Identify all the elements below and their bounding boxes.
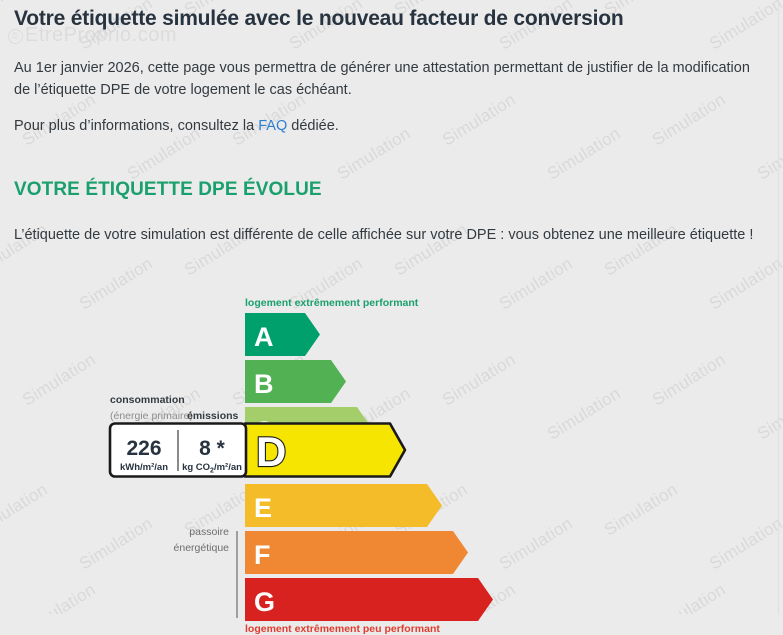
dpe-row-e: E xyxy=(245,484,442,527)
dpe-letter-a: A xyxy=(254,322,274,352)
faq-paragraph: Pour plus d’informations, consultez la F… xyxy=(14,101,769,137)
dpe-chart: logement extrêmement performant A B C co… xyxy=(0,290,783,635)
dpe-bar-g xyxy=(245,578,493,621)
dpe-emissions-value: 8 * xyxy=(199,437,226,460)
dpe-consumption-value: 226 xyxy=(126,437,161,460)
section-subtitle: L’étiquette de votre simulation est diff… xyxy=(14,201,769,246)
dpe-top-caption: logement extrêmement performant xyxy=(245,297,419,309)
dpe-row-d-current: 226 kWh/m²/an 8 * kg CO2/m²/an D xyxy=(110,424,405,477)
dpe-energy-label: logement extrêmement performant A B C co… xyxy=(0,290,783,620)
dpe-emissions-unit-a: kg CO xyxy=(182,462,210,473)
dpe-letter-g: G xyxy=(254,587,275,617)
dpe-letter-e: E xyxy=(254,493,272,523)
section-title: VOTRE ÉTIQUETTE DPE ÉVOLUE xyxy=(14,137,769,201)
passoire-label-line2: énergétique xyxy=(174,542,230,554)
dpe-emissions-unit-b: /m²/an xyxy=(214,462,242,473)
dpe-row-a: A xyxy=(245,313,320,356)
dpe-letter-d: D xyxy=(256,428,286,475)
intro-paragraph: Au 1er janvier 2026, cette page vous per… xyxy=(14,32,766,101)
faq-text-after: dédiée. xyxy=(287,118,339,134)
dpe-row-b: B xyxy=(245,360,346,403)
dpe-consumption-label-line1: consommation xyxy=(110,394,185,406)
dpe-letter-f: F xyxy=(254,540,271,570)
dpe-emissions-label: émissions xyxy=(187,410,239,422)
dpe-bottom-caption: logement extrêmement peu performant xyxy=(245,623,440,635)
page-content: Votre étiquette simulée avec le nouveau … xyxy=(0,0,783,246)
dpe-letter-b: B xyxy=(254,369,274,399)
dpe-bar-e xyxy=(245,484,442,527)
page-title: Votre étiquette simulée avec le nouveau … xyxy=(14,0,769,32)
dpe-row-g: G xyxy=(245,578,493,621)
dpe-consumption-label-line2: (énergie primaire) xyxy=(110,410,193,422)
dpe-row-f: F xyxy=(245,531,468,574)
faq-link[interactable]: FAQ xyxy=(258,118,287,134)
dpe-bar-f xyxy=(245,531,468,574)
dpe-consumption-unit: kWh/m²/an xyxy=(120,462,168,473)
passoire-label-line1: passoire xyxy=(189,526,229,538)
faq-text-before: Pour plus d’informations, consultez la xyxy=(14,118,258,134)
